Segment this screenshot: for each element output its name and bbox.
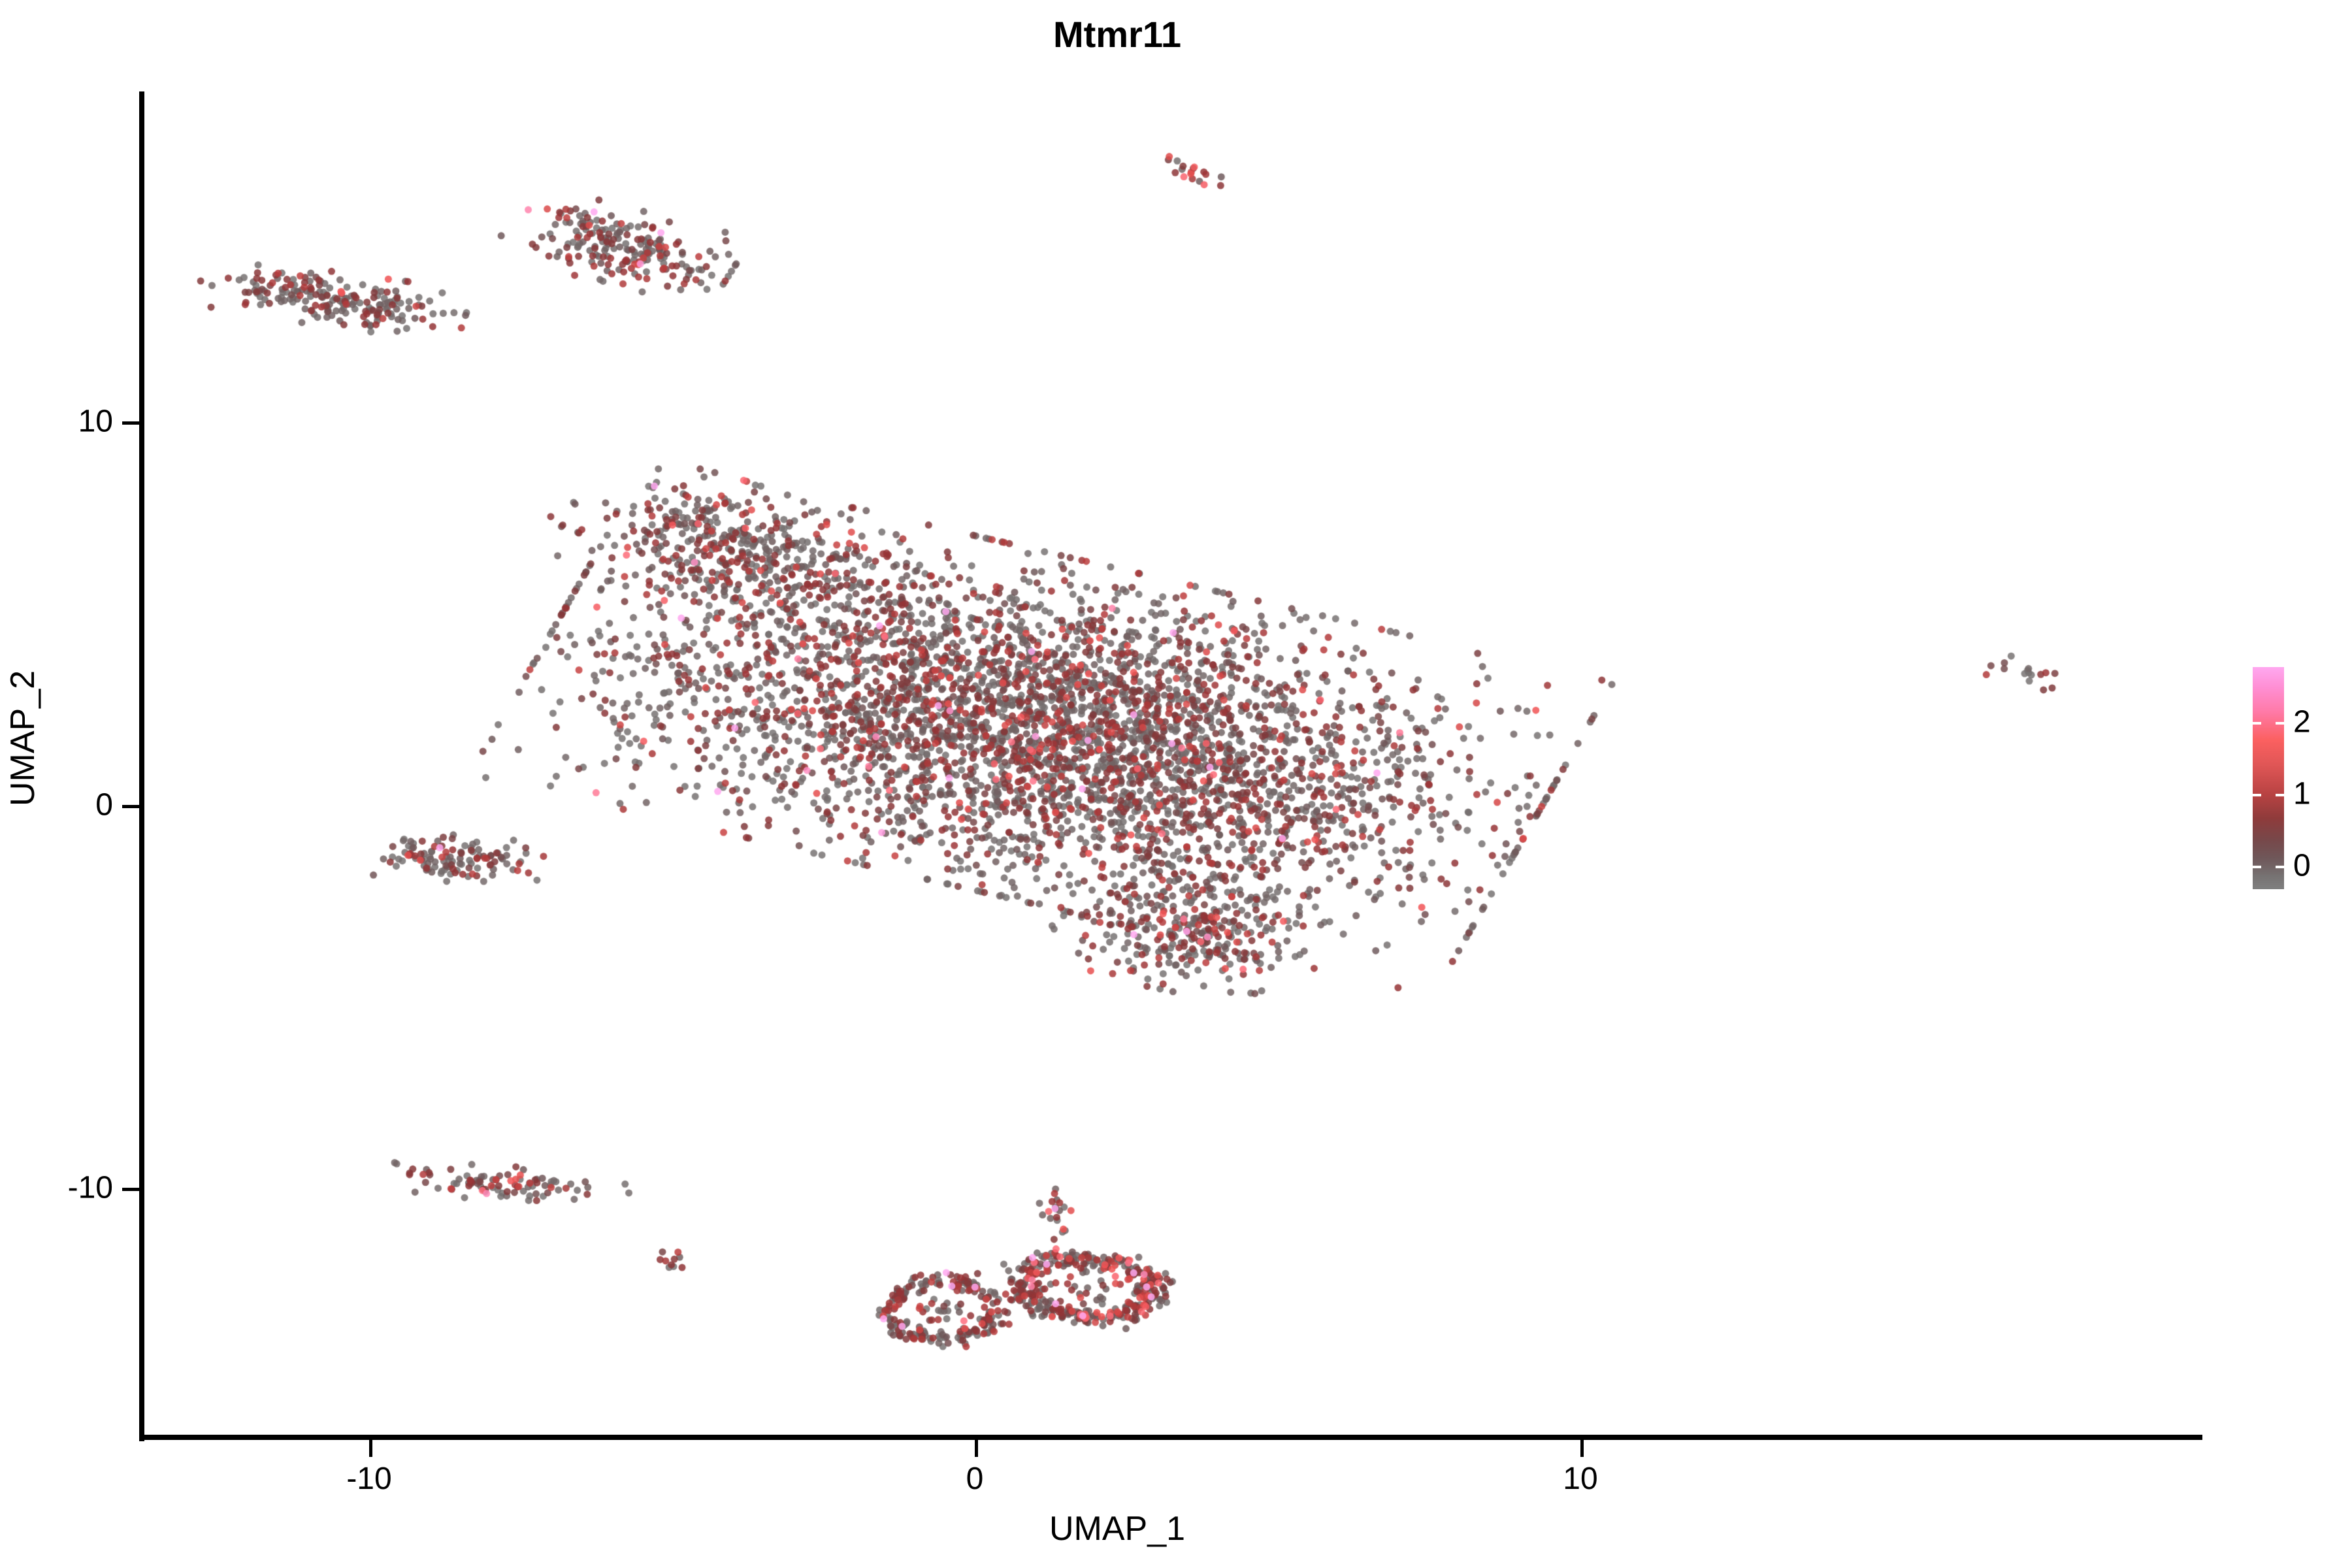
colorbar-label-2: 2 bbox=[2293, 704, 2311, 740]
colorbar-legend: 2 1 0 bbox=[2253, 667, 2344, 889]
y-tick-label: 0 bbox=[95, 787, 113, 823]
x-tick-mark bbox=[1580, 1440, 1584, 1457]
y-tick-mark bbox=[122, 1188, 139, 1191]
colorbar-label-0: 0 bbox=[2293, 848, 2311, 884]
page-title: Mtmr11 bbox=[0, 13, 2234, 56]
y-axis-title: UMAP_2 bbox=[3, 529, 42, 947]
y-tick-label: -10 bbox=[68, 1170, 113, 1206]
colorbar-tick bbox=[2276, 794, 2284, 796]
colorbar-tick bbox=[2276, 722, 2284, 725]
scatter-points-layer bbox=[144, 91, 2202, 1439]
colorbar-label-1: 1 bbox=[2293, 776, 2311, 812]
x-tick-mark bbox=[369, 1440, 372, 1457]
x-tick-label: -10 bbox=[346, 1461, 391, 1497]
x-tick-label: 10 bbox=[1563, 1461, 1597, 1497]
plot-panel bbox=[144, 91, 2202, 1439]
colorbar-tick bbox=[2276, 866, 2284, 868]
x-tick-mark bbox=[975, 1440, 978, 1457]
y-tick-mark bbox=[122, 421, 139, 425]
x-axis-title: UMAP_1 bbox=[0, 1509, 2234, 1548]
umap-feature-plot: Mtmr11 -10 0 10 10 0 -10 UMAP_1 UMAP_2 2… bbox=[0, 0, 2352, 1568]
colorbar-gradient bbox=[2253, 667, 2284, 889]
y-tick-mark bbox=[122, 805, 139, 808]
y-axis-line bbox=[139, 91, 144, 1441]
y-tick-label: 10 bbox=[78, 404, 113, 440]
x-axis-line bbox=[139, 1435, 2202, 1440]
colorbar-tick bbox=[2253, 722, 2261, 725]
x-tick-label: 0 bbox=[966, 1461, 984, 1497]
colorbar-tick bbox=[2253, 794, 2261, 796]
colorbar-tick bbox=[2253, 866, 2261, 868]
